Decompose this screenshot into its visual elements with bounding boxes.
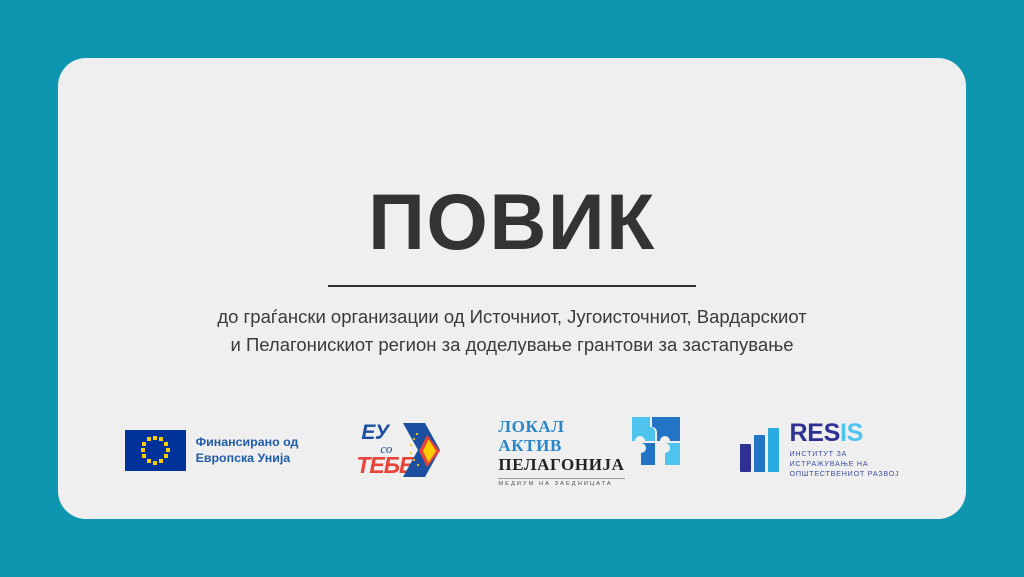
page-title: ПОВИК (58, 182, 966, 261)
resis-wordmark-res: RES (790, 419, 841, 447)
eu-star-icon (164, 454, 168, 458)
lap-word-1: ЛОКАЛ (498, 417, 564, 436)
eu-star-icon (141, 448, 145, 452)
lap-line-1: ЛОКАЛ (498, 417, 624, 436)
eu-star-icon (147, 459, 151, 463)
puzzle-icon (630, 415, 682, 467)
eu-funded-line-2: Европска Унија (196, 450, 299, 466)
subtitle-line-1: до граѓански организации од Источниот, Ј… (162, 303, 862, 331)
resis-subtitle: ИНСТИТУТ ЗА ИСТРАЖУВАЊЕ НА ОПШТЕСТВЕНИОТ… (790, 449, 900, 480)
eu-star-icon (159, 459, 163, 463)
resis-subtitle-line-1: ИНСТИТУТ ЗА (790, 449, 900, 459)
eu-flag-icon (125, 430, 186, 471)
lap-word-2: АКТИВ (498, 436, 562, 455)
eu-star-icon (142, 442, 146, 446)
lap-wordmark: ЛОКАЛ АКТИВ ПЕЛАГОНИЈА МЕДИУМ НА ЗАЕДНИЦ… (498, 413, 624, 488)
eu-with-you-logo: ЕУ со ТЕБЕ (356, 419, 440, 481)
lap-line-2: АКТИВ (498, 436, 624, 455)
lap-tagline: МЕДИУМ НА ЗАЕДНИЦАТА (498, 478, 624, 487)
resis-text-block: RESIS ИНСТИТУТ ЗА ИСТРАЖУВАЊЕ НА ОПШТЕСТ… (790, 421, 900, 480)
resis-wordmark: RESIS (790, 421, 900, 446)
resis-subtitle-line-2: ИСТРАЖУВАЊЕ НА (790, 459, 900, 469)
eu-star-icon (153, 436, 157, 440)
lap-line-3: ПЕЛАГОНИЈА (498, 455, 624, 474)
lokal-aktiv-pelagonija-logo: ЛОКАЛ АКТИВ ПЕЛАГОНИЈА МЕДИУМ НА ЗАЕДНИЦ… (498, 413, 681, 488)
eu-star-icon (166, 448, 170, 452)
poster-canvas: ПОВИК до граѓански организации од Источн… (0, 0, 1024, 577)
eu-with-you-lockup: ЕУ со ТЕБЕ (356, 419, 440, 481)
resis-subtitle-line-3: ОПШТЕСТВЕНИОТ РАЗВОЈ (790, 469, 900, 479)
title-divider (328, 285, 696, 287)
content-card: ПОВИК до граѓански организации од Источн… (58, 58, 966, 519)
eu-flag-arrow-icon (403, 423, 440, 477)
resis-logo: RESIS ИНСТИТУТ ЗА ИСТРАЖУВАЊЕ НА ОПШТЕСТ… (740, 421, 900, 480)
eu-star-icon (164, 442, 168, 446)
eu-star-icon (153, 461, 157, 465)
page-subtitle: до граѓански организации од Источниот, Ј… (162, 303, 862, 359)
bar-chart-icon (740, 428, 782, 472)
eu-funded-logo: Финансирано од Европска Унија (125, 430, 299, 471)
logo-strip: Финансирано од Европска Унија ЕУ со ТЕБЕ (58, 400, 966, 500)
resis-wordmark-is: IS (840, 419, 863, 447)
eu-star-icon (147, 437, 151, 441)
eu-funded-label: Финансирано од Европска Унија (196, 434, 299, 467)
subtitle-line-2: и Пелагонискиот регион за доделување гра… (162, 331, 862, 359)
headline-block: ПОВИК до граѓански организации од Источн… (58, 182, 966, 359)
eu-star-icon (142, 454, 146, 458)
eu-star-icon (159, 437, 163, 441)
eu-funded-line-1: Финансирано од (196, 434, 299, 450)
